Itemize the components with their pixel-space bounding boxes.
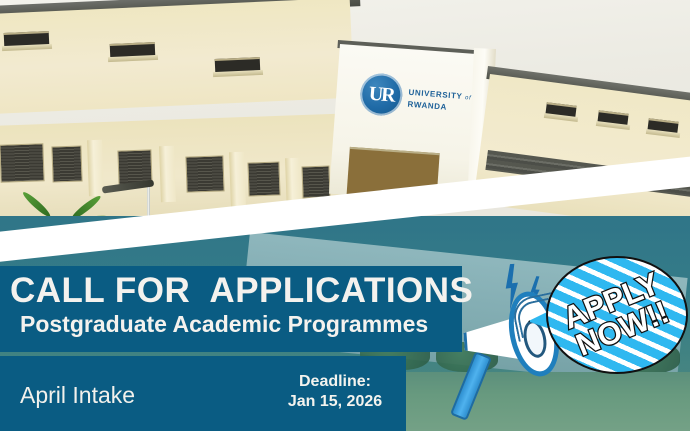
apply-now-badge[interactable]: APPLY NOW!! xyxy=(546,256,688,374)
university-logo: UR UNIVERSITY of RWANDA xyxy=(358,72,482,133)
badge-text: APPLY NOW!! xyxy=(529,234,690,397)
university-logo-icon: UR xyxy=(359,72,404,117)
page-subtitle: Postgraduate Academic Programmes xyxy=(20,313,462,336)
column-2 xyxy=(159,146,176,202)
deadline-block: Deadline: Jan 15, 2026 xyxy=(270,372,400,412)
louvre-window-2 xyxy=(51,145,82,182)
column-3 xyxy=(229,152,246,208)
poster-canvas: UR UNIVERSITY of RWANDA CALL FOR APPLICA… xyxy=(0,0,690,431)
louvre-window-1 xyxy=(0,143,45,183)
logo-wordmark: UNIVERSITY of RWANDA xyxy=(407,87,472,115)
intake-label: April Intake xyxy=(20,384,135,407)
deadline-date: Jan 15, 2026 xyxy=(270,392,400,412)
deadline-label: Deadline: xyxy=(270,372,400,392)
logo-of: of xyxy=(465,95,472,101)
building-left-upper xyxy=(0,0,354,114)
louvre-window-4 xyxy=(185,155,224,192)
logo-monogram: UR xyxy=(359,72,404,117)
louvre-window-6 xyxy=(301,166,330,199)
page-title: CALL FOR APPLICATIONS xyxy=(10,273,462,308)
louvre-window-5 xyxy=(247,161,280,196)
